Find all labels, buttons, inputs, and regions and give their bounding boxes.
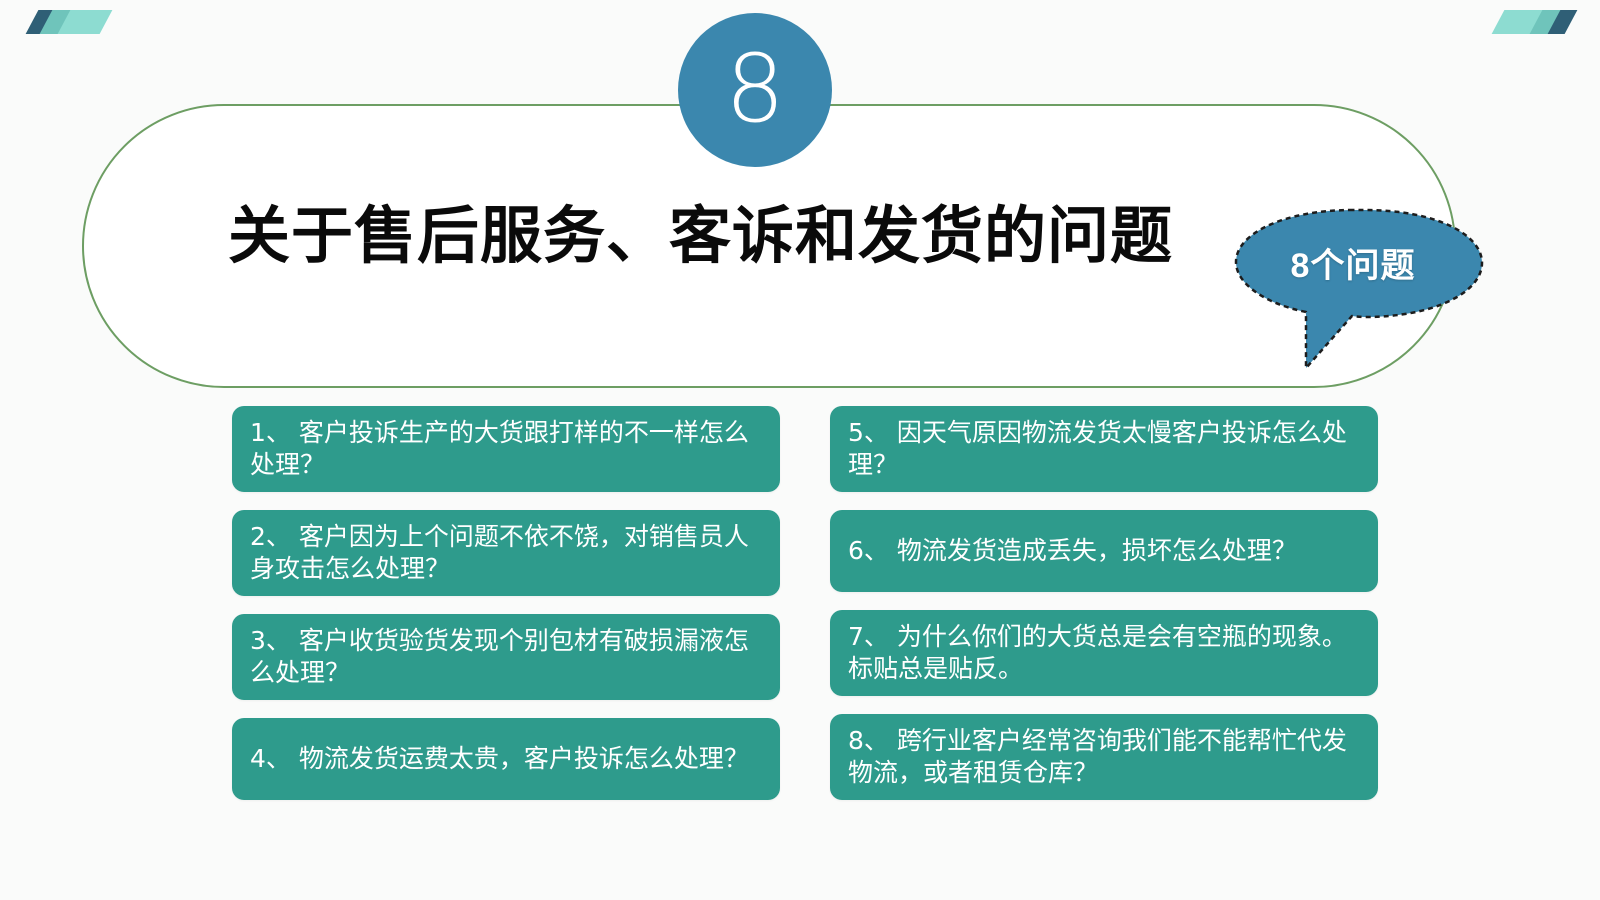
question-item[interactable]: 3、 客户收货验货发现个别包材有破损漏液怎么处理？ xyxy=(232,614,780,700)
speech-bubble-icon xyxy=(1228,200,1490,380)
question-item[interactable]: 8、 跨行业客户经常咨询我们能不能帮忙代发物流，或者租赁仓库？ xyxy=(830,714,1378,800)
question-column-right: 5、 因天气原因物流发货太慢客户投诉怎么处理？ 6、 物流发货造成丢失，损坏怎么… xyxy=(830,406,1378,800)
question-list: 1、 客户投诉生产的大货跟打样的不一样怎么处理？ 2、 客户因为上个问题不依不饶… xyxy=(232,406,1378,800)
page-title: 关于售后服务、客诉和发货的问题 xyxy=(228,206,1238,268)
question-item[interactable]: 2、 客户因为上个问题不依不饶，对销售员人身攻击怎么处理？ xyxy=(232,510,780,596)
slide-canvas: 关于售后服务、客诉和发货的问题 8 8个问题 1、 客户投诉生产的大货跟打样的不… xyxy=(0,0,1600,900)
question-count-bubble: 8个问题 xyxy=(1228,200,1490,380)
question-item[interactable]: 6、 物流发货造成丢失，损坏怎么处理？ xyxy=(830,510,1378,592)
question-item[interactable]: 5、 因天气原因物流发货太慢客户投诉怎么处理？ xyxy=(830,406,1378,492)
question-item[interactable]: 4、 物流发货运费太贵，客户投诉怎么处理？ xyxy=(232,718,780,800)
section-number-badge: 8 xyxy=(678,13,832,167)
bubble-label: 8个问题 xyxy=(1228,238,1478,287)
ribbon-decoration-top-right xyxy=(1498,10,1568,34)
question-column-left: 1、 客户投诉生产的大货跟打样的不一样怎么处理？ 2、 客户因为上个问题不依不饶… xyxy=(232,406,780,800)
question-item[interactable]: 7、 为什么你们的大货总是会有空瓶的现象。标贴总是贴反。 xyxy=(830,610,1378,696)
question-item[interactable]: 1、 客户投诉生产的大货跟打样的不一样怎么处理？ xyxy=(232,406,780,492)
ribbon-decoration-top-left xyxy=(32,10,102,34)
